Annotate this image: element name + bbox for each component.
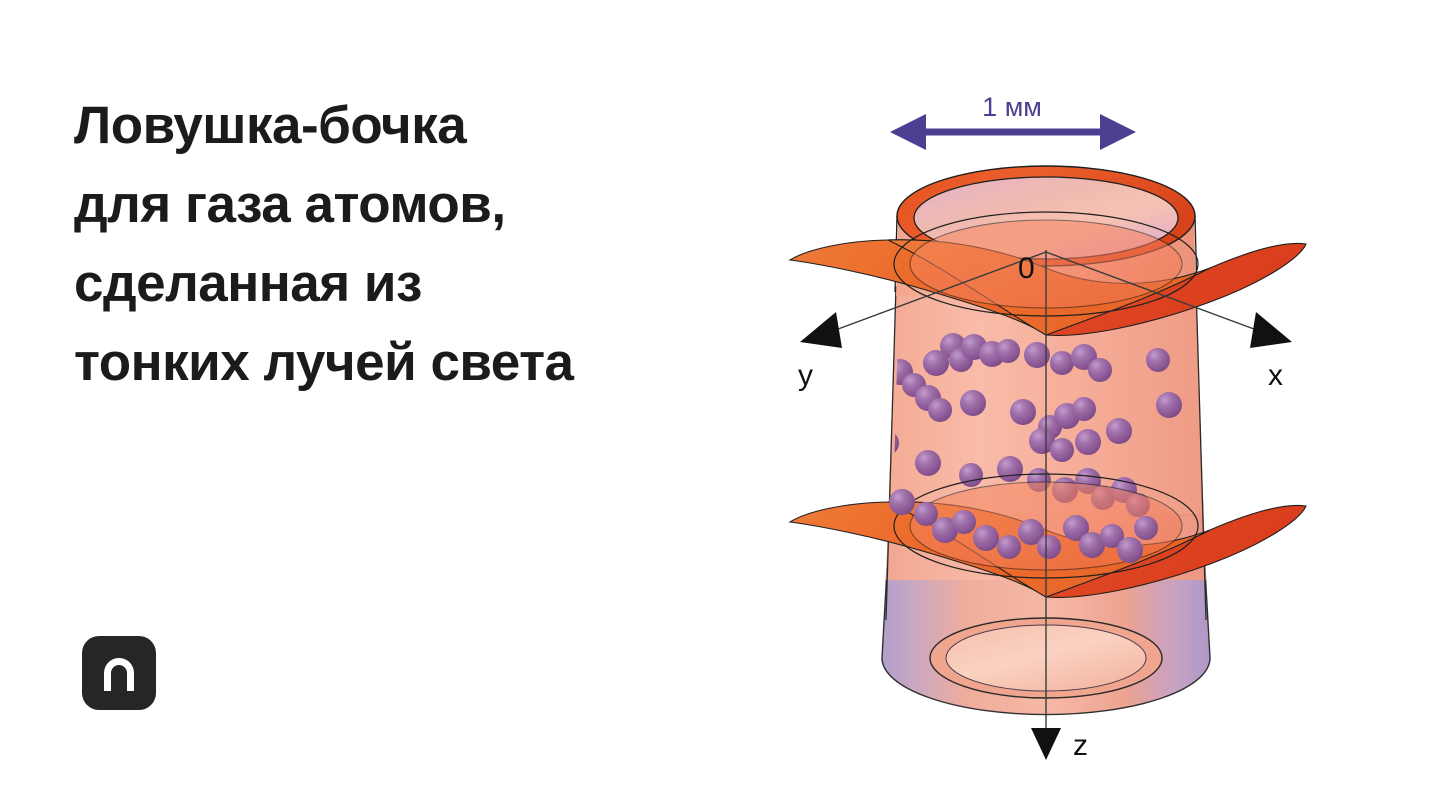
logo-background [82, 636, 156, 710]
z-axis-arrow-icon [1031, 728, 1061, 760]
atom [1088, 358, 1112, 382]
atom [960, 390, 986, 416]
x-axis-label: x [1268, 359, 1283, 392]
atom [889, 489, 915, 515]
atom [1010, 399, 1036, 425]
y-axis-label: y [798, 359, 813, 392]
atom [997, 456, 1023, 482]
atom [952, 510, 976, 534]
atom [997, 535, 1021, 559]
upper-light-sheet [790, 212, 1306, 335]
dimension-indicator: 1 мм [890, 92, 1136, 150]
atom [1037, 535, 1061, 559]
atom [1117, 537, 1143, 563]
y-axis-arrow-icon [800, 312, 842, 348]
atom [923, 350, 949, 376]
optical-barrel-trap-diagram: 1 мм [740, 60, 1360, 770]
atom [1106, 418, 1132, 444]
origin-label: 0 [1018, 252, 1035, 285]
nplus1-logo[interactable] [82, 636, 156, 710]
x-axis-arrow-icon [1250, 312, 1292, 348]
poster-canvas: Ловушка-бочка для газа атомов, сделанная… [0, 0, 1430, 805]
atom [973, 525, 999, 551]
atom [1050, 438, 1074, 462]
z-axis-label: z [1073, 729, 1088, 762]
dimension-label: 1 мм [982, 92, 1042, 122]
headline-line-3: сделанная из [74, 244, 734, 323]
headline-line-4: тонких лучей света [74, 323, 734, 402]
atom [959, 463, 983, 487]
atom [1146, 348, 1170, 372]
headline-line-2: для газа атомов, [74, 165, 734, 244]
atom [1156, 392, 1182, 418]
atom [1075, 429, 1101, 455]
atom [996, 339, 1020, 363]
atom [873, 430, 899, 456]
atom [1050, 351, 1074, 375]
headline-line-1: Ловушка-бочка [74, 86, 734, 165]
atom [928, 398, 952, 422]
atom [1072, 397, 1096, 421]
page-title: Ловушка-бочка для газа атомов, сделанная… [74, 86, 734, 402]
atom [1134, 516, 1158, 540]
atom [914, 502, 938, 526]
atom [915, 450, 941, 476]
